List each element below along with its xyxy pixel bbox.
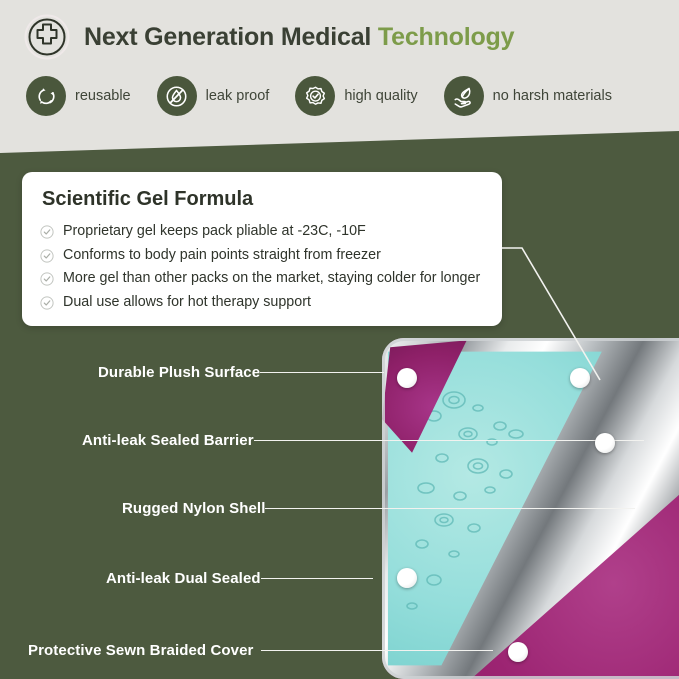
callout-dot-dual-sealed — [397, 568, 417, 588]
card-leader-line — [500, 240, 620, 390]
feature-label-leak-proof: leak proof — [206, 88, 270, 104]
callout-leader — [261, 578, 373, 580]
header-banner: Next Generation Medical Technology — [0, 0, 679, 160]
callout-label: Anti-leak Sealed Barrier — [82, 432, 254, 449]
card-bullet-text: Proprietary gel keeps pack pliable at -2… — [63, 223, 366, 240]
feature-high-quality: high quality — [295, 76, 417, 116]
callout-dot-barrier — [570, 368, 590, 388]
feature-label-high-quality: high quality — [344, 88, 417, 104]
page-title: Next Generation Medical Technology — [84, 23, 514, 52]
feature-reusable: reusable — [26, 76, 131, 116]
callout-label: Rugged Nylon Shell — [122, 500, 265, 517]
callout-anti-leak-dual-sealed: Anti-leak Dual Sealed — [106, 570, 373, 587]
hand-leaf-icon — [444, 76, 484, 116]
no-drop-icon — [157, 76, 197, 116]
callout-label: Anti-leak Dual Sealed — [106, 570, 261, 587]
feature-label-reusable: reusable — [75, 88, 131, 104]
infographic-root: Next Generation Medical Technology — [0, 0, 679, 679]
feature-no-harsh-materials: no harsh materials — [444, 76, 612, 116]
header-title-row: Next Generation Medical Technology — [24, 14, 514, 60]
callout-dot-braided — [508, 642, 528, 662]
card-bullet: Dual use allows for hot therapy support — [40, 294, 484, 311]
callout-dot-plush — [397, 368, 417, 388]
check-circle-icon — [40, 296, 54, 310]
card-bullet-text: More gel than other packs on the market,… — [63, 270, 480, 287]
callout-label: Protective Sewn Braided Cover — [28, 642, 253, 659]
callout-durable-plush-surface: Durable Plush Surface — [98, 364, 384, 381]
quality-badge-icon — [295, 76, 335, 116]
card-title: Scientific Gel Formula — [42, 188, 484, 211]
feature-leak-proof: leak proof — [157, 76, 270, 116]
check-circle-icon — [40, 272, 54, 286]
card-bullet: More gel than other packs on the market,… — [40, 270, 484, 287]
check-circle-icon — [40, 225, 54, 239]
card-bullet-text: Dual use allows for hot therapy support — [63, 294, 311, 311]
check-circle-icon — [40, 249, 54, 263]
callout-leader — [254, 440, 644, 442]
callout-dot-shell — [595, 433, 615, 453]
callout-leader — [260, 372, 384, 374]
callout-anti-leak-sealed-barrier: Anti-leak Sealed Barrier — [82, 432, 644, 449]
callout-protective-sewn-braided-cover: Protective Sewn Braided Cover — [28, 642, 493, 659]
feature-label-no-harsh: no harsh materials — [493, 88, 612, 104]
card-bullet: Proprietary gel keeps pack pliable at -2… — [40, 223, 484, 240]
gel-formula-card: Scientific Gel Formula Proprietary gel k… — [22, 172, 502, 326]
callout-leader — [261, 650, 493, 652]
card-bullet-text: Conforms to body pain points straight fr… — [63, 247, 381, 264]
callout-leader — [265, 508, 635, 510]
callout-rugged-nylon-shell: Rugged Nylon Shell — [122, 500, 635, 517]
title-primary: Next Generation Medical — [84, 23, 371, 51]
callout-label: Durable Plush Surface — [98, 364, 260, 381]
recycle-icon — [26, 76, 66, 116]
title-accent: Technology — [378, 23, 514, 51]
medical-cross-icon — [24, 14, 70, 60]
feature-badge-row: reusable leak proof — [26, 76, 612, 116]
card-bullet: Conforms to body pain points straight fr… — [40, 247, 484, 264]
